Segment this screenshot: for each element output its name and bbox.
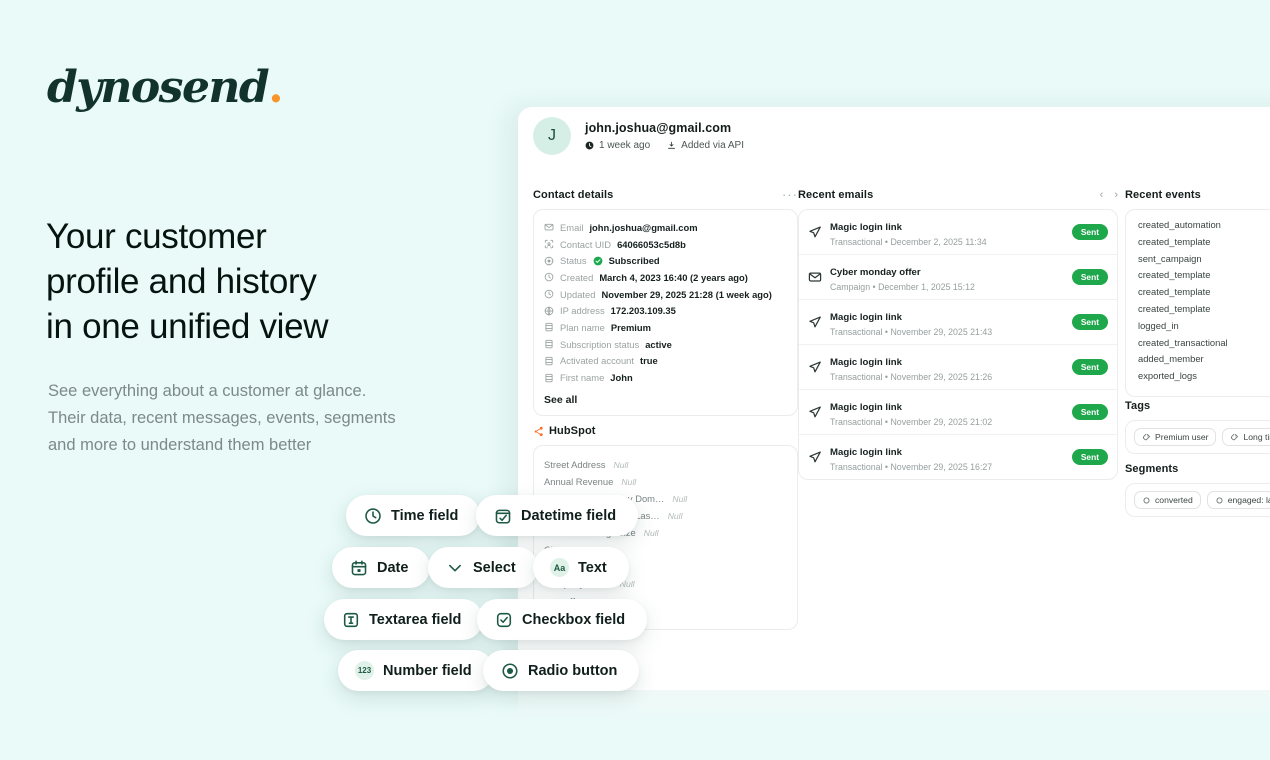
- brand-logo-dot: .: [268, 62, 282, 113]
- hubspot-row-value: Null: [672, 494, 687, 504]
- recent-email-item[interactable]: Magic login link Transactional • Decembe…: [799, 210, 1117, 255]
- contact-detail-row: Updated November 29, 2025 21:28 (1 week …: [544, 286, 787, 303]
- contact-detail-label: IP address: [560, 305, 605, 316]
- contact-detail-value: active: [645, 339, 672, 350]
- status-badge: Sent: [1072, 269, 1108, 285]
- recent-events-section: Recent events created_automation created…: [1125, 189, 1270, 397]
- hubspot-row: Annual Revenue Null: [544, 473, 787, 490]
- segment-chip[interactable]: converted: [1134, 491, 1201, 509]
- paper-plane-icon: [808, 225, 822, 239]
- contact-detail-value: Subscribed: [609, 255, 660, 266]
- contact-details-section: Contact details ··· Email john.joshua@gm…: [533, 189, 798, 416]
- field-pill-label: Number field: [383, 663, 472, 679]
- recent-email-title: Magic login link: [830, 357, 902, 368]
- tag-icon: [1142, 433, 1151, 442]
- field-pill[interactable]: Checkbox field: [477, 599, 647, 640]
- recent-emails-list: Magic login link Transactional • Decembe…: [798, 209, 1118, 480]
- hubspot-title: HubSpot: [549, 425, 596, 437]
- recent-email-title: Magic login link: [830, 222, 902, 233]
- hubspot-row-label: Annual Revenue: [544, 476, 613, 487]
- recent-event-item: created_template: [1138, 303, 1270, 320]
- recent-event-item: added_member: [1138, 353, 1270, 370]
- contact-detail-row: Email john.joshua@gmail.com: [544, 219, 787, 236]
- recent-emails-section: Recent emails ‹ › Magic login link Trans…: [798, 189, 1118, 480]
- envelope-icon: [544, 222, 554, 232]
- recent-event-item: created_automation: [1138, 219, 1270, 236]
- contact-detail-value: March 4, 2023 16:40 (2 years ago): [599, 272, 748, 283]
- recent-event-item: created_transactional: [1138, 337, 1270, 354]
- contact-detail-row: Contact UID 64066053c5d8b: [544, 236, 787, 253]
- clock-icon: [585, 141, 594, 150]
- segment-chip[interactable]: engaged: last 30 da: [1207, 491, 1270, 509]
- recent-event-item: created_template: [1138, 286, 1270, 303]
- recent-email-subtitle: Campaign • December 1, 2025 15:12: [830, 282, 1064, 292]
- download-icon: [667, 141, 676, 150]
- contact-details-menu-button[interactable]: ···: [782, 192, 798, 198]
- contact-detail-value: November 29, 2025 21:28 (1 week ago): [601, 289, 771, 300]
- contact-detail-row: IP address 172.203.109.35: [544, 302, 787, 319]
- contact-detail-value: 64066053c5d8b: [617, 239, 686, 250]
- chevron-left-icon[interactable]: ‹: [1100, 189, 1104, 201]
- contact-details-title: Contact details: [533, 189, 613, 201]
- page-subtitle: See everything about a customer at glanc…: [48, 378, 488, 459]
- segments-title: Segments: [1125, 463, 1270, 475]
- contact-detail-value: john.joshua@gmail.com: [589, 222, 697, 233]
- tag-chip[interactable]: Long time: [1222, 428, 1270, 446]
- clock-icon: [363, 506, 382, 525]
- status-badge: Sent: [1072, 314, 1108, 330]
- recent-events-list: created_automation created_template sent…: [1125, 209, 1270, 397]
- radio-icon: [500, 661, 519, 680]
- contact-detail-label: Email: [560, 222, 583, 233]
- hubspot-row-value: Null: [644, 528, 659, 538]
- contact-detail-label: Contact UID: [560, 239, 611, 250]
- hubspot-row: Street Address Null: [544, 456, 787, 473]
- recent-event-item: sent_campaign: [1138, 253, 1270, 270]
- field-pill[interactable]: Textarea field: [324, 599, 483, 640]
- contact-detail-row: Subscription status active: [544, 336, 787, 353]
- recent-email-subtitle: Transactional • November 29, 2025 16:27: [830, 462, 1064, 472]
- tags-list: Premium user Long time: [1125, 420, 1270, 454]
- check-circle-icon: [593, 256, 603, 266]
- tag-icon: [1230, 433, 1239, 442]
- segment-chip-label: converted: [1155, 495, 1193, 505]
- paper-plane-icon: [808, 315, 822, 329]
- paper-plane-icon: [808, 450, 822, 464]
- brand-logo: dynosend.: [47, 62, 282, 113]
- text-aa-icon: Aa: [550, 558, 569, 577]
- hubspot-row-value: Null: [621, 477, 636, 487]
- hubspot-row-label: Street Address: [544, 459, 606, 470]
- tags-title: Tags: [1125, 400, 1270, 412]
- recent-event-item: logged_in: [1138, 320, 1270, 337]
- contact-time-ago: 1 week ago: [599, 140, 650, 151]
- contact-meta: 1 week ago Added via API: [585, 140, 744, 151]
- contact-detail-label: First name: [560, 372, 604, 383]
- textarea-icon: [341, 610, 360, 629]
- headline-line-2: profile and history: [46, 262, 317, 301]
- brand-logo-text: dynosend: [47, 62, 268, 113]
- field-pill[interactable]: AaText: [533, 547, 629, 588]
- contact-detail-row: Created March 4, 2023 16:40 (2 years ago…: [544, 269, 787, 286]
- field-pill-label: Select: [473, 560, 516, 576]
- contact-header: J john.joshua@gmail.com 1 week ago Added…: [533, 117, 744, 155]
- avatar: J: [533, 117, 571, 155]
- subtitle-line-2: Their data, recent messages, events, seg…: [48, 409, 396, 427]
- globe-icon: [544, 306, 554, 316]
- contact-detail-label: Status: [560, 255, 587, 266]
- clock-icon: [544, 289, 554, 299]
- field-pill-label: Time field: [391, 508, 458, 524]
- tags-section: Tags Premium user Long time: [1125, 400, 1270, 454]
- contact-detail-label: Plan name: [560, 322, 605, 333]
- contact-detail-value: Premium: [611, 322, 651, 333]
- calendar-check-icon: [493, 506, 512, 525]
- contact-detail-row: Activated account true: [544, 353, 787, 370]
- headline-line-1: Your customer: [46, 217, 266, 256]
- recent-email-item[interactable]: Cyber monday offer Campaign • December 1…: [799, 255, 1117, 300]
- contact-detail-row: First name John: [544, 369, 787, 386]
- number-123-icon: 123: [355, 661, 374, 680]
- segments-section: Segments converted engaged: last 30 da: [1125, 463, 1270, 517]
- field-pill-label: Textarea field: [369, 612, 461, 628]
- recent-email-item[interactable]: Magic login link Transactional • Novembe…: [799, 435, 1117, 479]
- field-pill-label: Text: [578, 560, 607, 576]
- field-pill[interactable]: Date: [332, 547, 430, 588]
- recent-email-subtitle: Transactional • November 29, 2025 21:02: [830, 417, 1064, 427]
- field-pill[interactable]: Datetime field: [476, 495, 638, 536]
- paper-plane-icon: [808, 405, 822, 419]
- status-badge: Sent: [1072, 449, 1108, 465]
- paper-plane-icon: [808, 360, 822, 374]
- clock-icon: [544, 272, 554, 282]
- chevron-down-icon: [445, 558, 464, 577]
- field-pill[interactable]: 123Number field: [338, 650, 494, 691]
- database-icon: [544, 322, 554, 332]
- subtitle-line-1: See everything about a customer at glanc…: [48, 382, 366, 400]
- contact-detail-label: Activated account: [560, 355, 634, 366]
- status-badge: Sent: [1072, 224, 1108, 240]
- field-pill-label: Checkbox field: [522, 612, 625, 628]
- recent-event-item: created_template: [1138, 269, 1270, 286]
- contact-details-panel: Email john.joshua@gmail.com Contact UID …: [533, 209, 798, 416]
- recent-emails-title: Recent emails: [798, 189, 873, 201]
- circle-icon: [1142, 496, 1151, 505]
- recent-email-title: Magic login link: [830, 312, 902, 323]
- page-title: Your customer profile and history in one…: [46, 214, 476, 349]
- calendar-icon: [349, 558, 368, 577]
- hubspot-row-value: Null: [668, 511, 683, 521]
- contact-details-see-all-link[interactable]: See all: [544, 394, 787, 406]
- database-icon: [544, 339, 554, 349]
- recent-email-subtitle: Transactional • November 29, 2025 21:26: [830, 372, 1064, 382]
- field-pill[interactable]: Select: [428, 547, 538, 588]
- tag-chip[interactable]: Premium user: [1134, 428, 1216, 446]
- field-pill-label: Date: [377, 560, 408, 576]
- tag-chip-label: Long time: [1243, 432, 1270, 442]
- contact-detail-label: Updated: [560, 289, 595, 300]
- status-icon: [544, 256, 554, 266]
- recent-email-item[interactable]: Magic login link Transactional • Novembe…: [799, 390, 1117, 435]
- recent-email-item[interactable]: Magic login link Transactional • Novembe…: [799, 300, 1117, 345]
- fingerprint-icon: [544, 239, 554, 249]
- contact-detail-row: Plan name Premium: [544, 319, 787, 336]
- database-icon: [544, 373, 554, 383]
- recent-email-subtitle: Transactional • December 2, 2025 11:34: [830, 237, 1064, 247]
- field-pill[interactable]: Time field: [346, 495, 480, 536]
- recent-email-title: Magic login link: [830, 447, 902, 458]
- contact-detail-label: Subscription status: [560, 339, 639, 350]
- status-badge: Sent: [1072, 359, 1108, 375]
- recent-events-title: Recent events: [1125, 189, 1270, 201]
- field-pill-label: Radio button: [528, 663, 617, 679]
- field-pill-label: Datetime field: [521, 508, 616, 524]
- segment-chip-label: engaged: last 30 da: [1228, 495, 1270, 505]
- subtitle-line-3: and more to understand them better: [48, 436, 311, 454]
- hubspot-row-value: Null: [614, 460, 629, 470]
- recent-event-item: exported_logs: [1138, 370, 1270, 387]
- hubspot-logo-icon: [533, 426, 544, 437]
- contact-detail-value: true: [640, 355, 658, 366]
- contact-detail-value: 172.203.109.35: [611, 305, 676, 316]
- field-pill[interactable]: Radio button: [483, 650, 639, 691]
- contact-detail-row: Status Subscribed: [544, 252, 787, 269]
- segments-list: converted engaged: last 30 da: [1125, 483, 1270, 517]
- recent-email-item[interactable]: Magic login link Transactional • Novembe…: [799, 345, 1117, 390]
- status-badge: Sent: [1072, 404, 1108, 420]
- recent-event-item: created_template: [1138, 236, 1270, 253]
- database-icon: [544, 356, 554, 366]
- recent-email-title: Cyber monday offer: [830, 267, 921, 278]
- recent-email-title: Magic login link: [830, 402, 902, 413]
- contact-detail-value: John: [610, 372, 632, 383]
- chevron-right-icon[interactable]: ›: [1114, 189, 1118, 201]
- contact-source: Added via API: [681, 140, 744, 151]
- circle-icon: [1215, 496, 1224, 505]
- envelope-icon: [808, 270, 822, 284]
- contact-email: john.joshua@gmail.com: [585, 121, 744, 135]
- tag-chip-label: Premium user: [1155, 432, 1208, 442]
- headline-line-3: in one unified view: [46, 307, 328, 346]
- checkbox-icon: [494, 610, 513, 629]
- recent-email-subtitle: Transactional • November 29, 2025 21:43: [830, 327, 1064, 337]
- contact-detail-label: Created: [560, 272, 593, 283]
